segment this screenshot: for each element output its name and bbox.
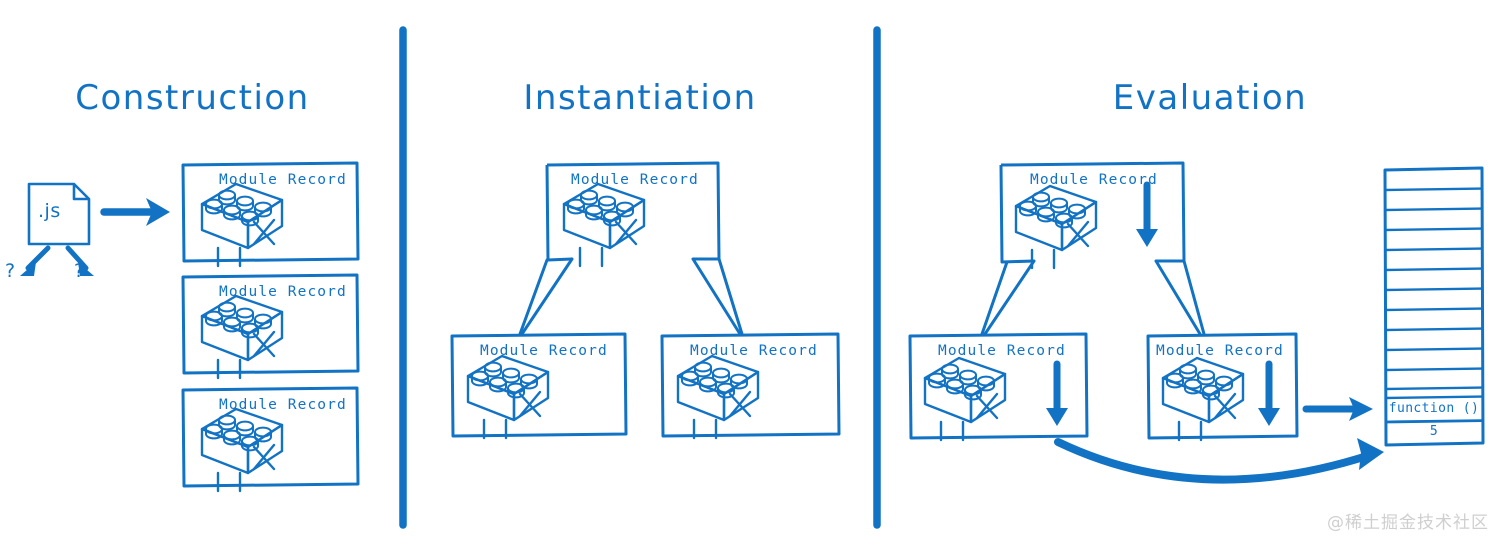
construction-unknown-arrow-left [20,248,48,276]
evaluation-connector-right [1156,261,1204,334]
instantiation-connector-left [520,259,572,334]
unknown-dependency-marker-right: ? [74,260,84,282]
unknown-dependency-marker-left: ? [5,260,15,282]
module-record-label: Module Record [219,397,347,413]
module-record-label: Module Record [219,172,347,188]
js-file-label: .js [38,200,61,222]
module-record-label: Module Record [1030,172,1158,188]
watermark: @稀土掘金技术社区 [1327,508,1489,533]
module-record-label: Module Record [219,284,347,300]
diagram-canvas: Construction Instantiation Evaluation .j… [0,0,1512,555]
module-record-label: Module Record [690,343,818,359]
construction-main-arrow [104,198,170,226]
evaluation-to-memory-arrow [1306,397,1373,421]
module-record-label: Module Record [1156,343,1284,359]
module-record-label: Module Record [571,172,699,188]
module-record-label: Module Record [938,343,1066,359]
section-title-evaluation: Evaluation [1000,78,1420,118]
module-record-label: Module Record [480,343,608,359]
evaluation-connector-left [982,261,1034,334]
section-title-construction: Construction [0,78,385,118]
memory-cell-function: function () [1387,401,1481,416]
memory-cell-value: 5 [1387,424,1481,439]
section-title-instantiation: Instantiation [420,78,860,118]
instantiation-connector-right [693,259,742,334]
evaluation-curved-return-arrow [1058,438,1384,480]
